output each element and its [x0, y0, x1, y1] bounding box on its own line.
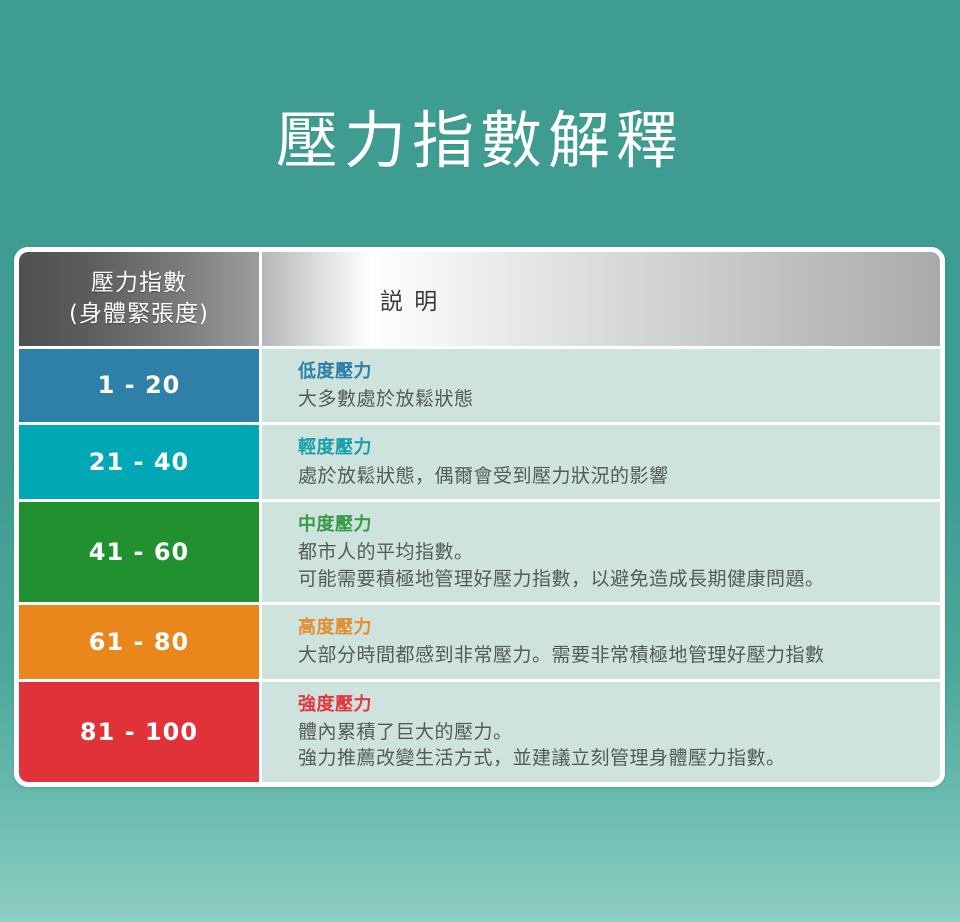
description-cell: 中度壓力 都市人的平均指數。 可能需要積極地管理好壓力指數，以避免造成長期健康問… — [262, 502, 940, 602]
description-line: 體內累積了巨大的壓力。 — [298, 719, 940, 745]
level-label: 強度壓力 — [298, 693, 940, 717]
description-cell: 強度壓力 體內累積了巨大的壓力。 強力推薦改變生活方式，並建議立刻管理身體壓力指… — [262, 682, 940, 782]
header-cell-index: 壓力指數 (身體緊張度) — [19, 252, 259, 346]
range-cell: 81 - 100 — [19, 682, 259, 782]
description-cell: 低度壓力 大多數處於放鬆狀態 — [262, 349, 940, 423]
table-header-row: 壓力指數 (身體緊張度) 説 明 — [19, 252, 940, 349]
stress-index-table-card: 壓力指數 (身體緊張度) 説 明 1 - 20 低度壓力 大多數處於放鬆狀態 2… — [14, 247, 945, 787]
range-cell: 1 - 20 — [19, 349, 259, 423]
description-line: 大部分時間都感到非常壓力。需要非常積極地管理好壓力指數 — [298, 642, 940, 668]
level-label: 中度壓力 — [298, 513, 940, 537]
table-row: 1 - 20 低度壓力 大多數處於放鬆狀態 — [19, 349, 940, 426]
description-line: 大多數處於放鬆狀態 — [298, 386, 940, 412]
description-line: 處於放鬆狀態，偶爾會受到壓力狀況的影響 — [298, 463, 940, 489]
range-cell: 41 - 60 — [19, 502, 259, 602]
table-row: 21 - 40 輕度壓力 處於放鬆狀態，偶爾會受到壓力狀況的影響 — [19, 425, 940, 502]
header-index-line2: (身體緊張度) — [69, 299, 209, 330]
level-label: 高度壓力 — [298, 616, 940, 640]
table-row: 81 - 100 強度壓力 體內累積了巨大的壓力。 強力推薦改變生活方式，並建議… — [19, 682, 940, 782]
page-title: 壓力指數解釋 — [0, 104, 960, 177]
description-cell: 輕度壓力 處於放鬆狀態，偶爾會受到壓力狀況的影響 — [262, 425, 940, 499]
description-line: 強力推薦改變生活方式，並建議立刻管理身體壓力指數。 — [298, 745, 940, 771]
description-line: 都市人的平均指數。 — [298, 539, 940, 565]
range-cell: 21 - 40 — [19, 425, 259, 499]
level-label: 低度壓力 — [298, 360, 940, 384]
header-index-line1: 壓力指數 — [91, 268, 187, 299]
header-description-label: 説 明 — [380, 282, 439, 316]
level-label: 輕度壓力 — [298, 436, 940, 460]
stress-index-infographic: 壓力指數解釋 壓力指數 (身體緊張度) 説 明 1 - 20 低度壓力 大多數處… — [0, 0, 960, 922]
table-row: 61 - 80 高度壓力 大部分時間都感到非常壓力。需要非常積極地管理好壓力指數 — [19, 605, 940, 682]
header-cell-description: 説 明 — [262, 252, 940, 346]
table-row: 41 - 60 中度壓力 都市人的平均指數。 可能需要積極地管理好壓力指數，以避… — [19, 502, 940, 605]
description-cell: 高度壓力 大部分時間都感到非常壓力。需要非常積極地管理好壓力指數 — [262, 605, 940, 679]
range-cell: 61 - 80 — [19, 605, 259, 679]
stress-index-table: 壓力指數 (身體緊張度) 説 明 1 - 20 低度壓力 大多數處於放鬆狀態 2… — [19, 252, 940, 782]
description-line: 可能需要積極地管理好壓力指數，以避免造成長期健康問題。 — [298, 566, 940, 592]
